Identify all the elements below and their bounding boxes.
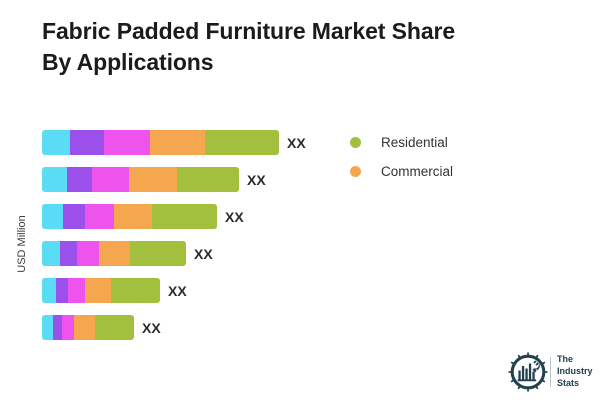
legend-item-residential[interactable]: Residential [350,128,530,157]
bar-segment-2[interactable] [56,278,68,303]
bar-value-label: XX [194,247,213,261]
bar-segment-1[interactable] [42,167,67,192]
legend-label: Residential [381,135,448,150]
legend-item-commercial[interactable]: Commercial [350,157,530,186]
bar-row: XX [42,167,266,192]
bar-segment-1[interactable] [42,278,56,303]
bar-segment-5[interactable] [205,130,279,155]
logo-text-line-2: Industry [557,366,593,378]
bar-segment-2[interactable] [60,241,77,266]
bar-segment-2[interactable] [63,204,85,229]
legend-label: Commercial [381,164,453,179]
bar-segment-1[interactable] [42,204,63,229]
plot-area: XXXXXXXXXXXX [42,130,332,362]
bar-segment-1[interactable] [42,315,53,340]
bar-row: XX [42,130,306,155]
bar-value-label: XX [287,136,306,150]
bar-segment-3[interactable] [85,204,114,229]
stacked-bar[interactable] [42,315,134,340]
bar-segment-1[interactable] [42,130,70,155]
chart-title-line-1: Fabric Padded Furniture Market Share [42,16,532,47]
bar-segment-2[interactable] [70,130,104,155]
chart-legend: ResidentialCommercial [350,128,530,186]
bar-row: XX [42,278,187,303]
chart-title-line-2: By Applications [42,47,532,78]
bar-value-label: XX [168,284,187,298]
legend-dot-icon [350,137,361,148]
bar-row: XX [42,204,244,229]
chart-container: Fabric Padded Furniture Market Share By … [0,0,600,400]
y-axis-label: USD Million [16,184,28,304]
stacked-bar[interactable] [42,204,217,229]
logo-text-line-3: Stats [557,378,593,390]
logo-text-line-1: The [557,354,593,366]
stacked-bar[interactable] [42,167,239,192]
bar-segment-3[interactable] [104,130,150,155]
bar-row: XX [42,241,213,266]
bar-segment-3[interactable] [92,167,129,192]
bar-value-label: XX [247,173,266,187]
y-axis-label-container: USD Million [0,190,26,310]
bar-row: XX [42,315,161,340]
brand-logo: The Industry Stats [508,352,593,392]
bar-segment-4[interactable] [150,130,205,155]
bar-segment-5[interactable] [177,167,239,192]
bar-segment-3[interactable] [62,315,74,340]
bar-segment-1[interactable] [42,241,60,266]
bar-value-label: XX [225,210,244,224]
bar-segment-5[interactable] [111,278,160,303]
logo-divider [550,357,551,387]
legend-dot-icon [350,166,361,177]
bar-segment-5[interactable] [130,241,186,266]
bar-segment-4[interactable] [114,204,152,229]
bar-segment-4[interactable] [74,315,95,340]
bar-segment-4[interactable] [85,278,111,303]
logo-wordmark: The Industry Stats [557,354,593,390]
bar-segment-5[interactable] [152,204,217,229]
bar-segment-2[interactable] [53,315,62,340]
bar-segment-3[interactable] [68,278,85,303]
bar-segment-5[interactable] [95,315,134,340]
industry-stats-gear-icon [508,352,548,392]
stacked-bar[interactable] [42,278,160,303]
chart-title: Fabric Padded Furniture Market Share By … [42,16,532,77]
bar-value-label: XX [142,321,161,335]
stacked-bar[interactable] [42,241,186,266]
bar-segment-4[interactable] [99,241,130,266]
bar-segment-2[interactable] [67,167,92,192]
stacked-bar[interactable] [42,130,279,155]
bar-segment-3[interactable] [77,241,99,266]
bar-segment-4[interactable] [129,167,177,192]
